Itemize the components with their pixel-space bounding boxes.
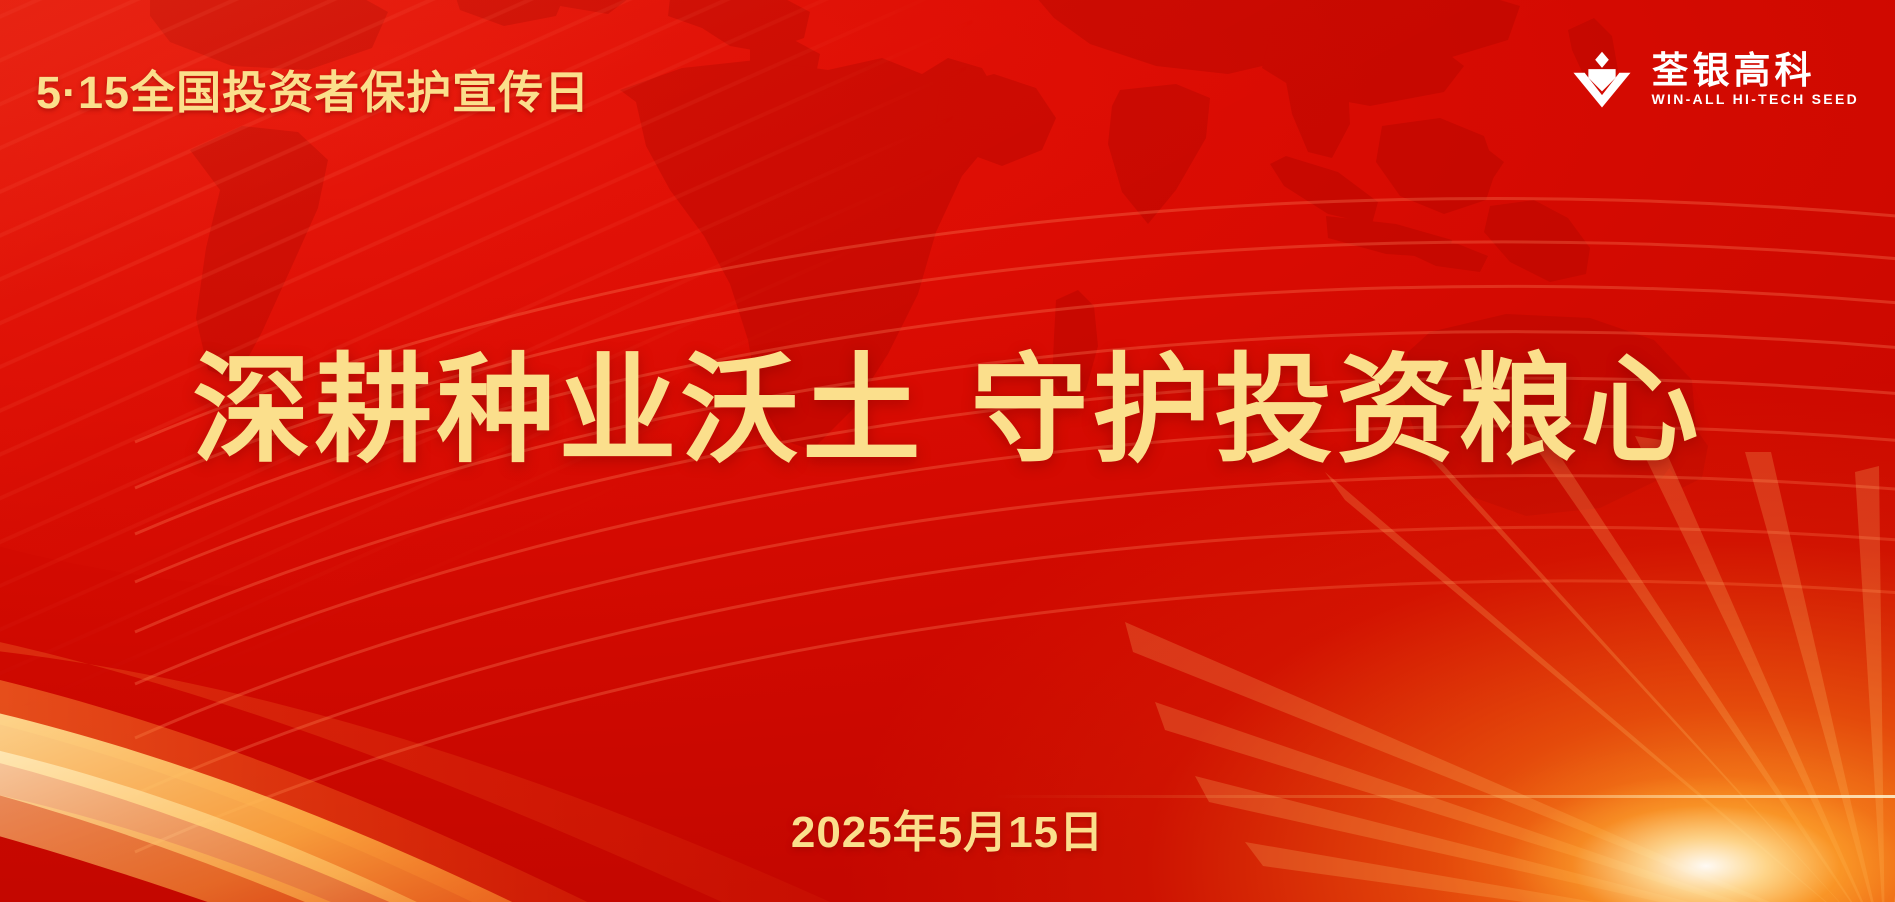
sprout-chevron-icon xyxy=(1571,48,1633,110)
logo-name-chinese: 荃银高科 xyxy=(1651,52,1859,89)
logo-name-english: WIN-ALL HI-TECH SEED xyxy=(1651,92,1859,106)
investor-protection-banner: 5·15全国投资者保护宣传日 荃银高科 WIN-ALL HI-TECH SEED… xyxy=(0,0,1895,902)
company-logo: 荃银高科 WIN-ALL HI-TECH SEED xyxy=(1571,48,1859,110)
slogan-part-1: 深耕种业沃土 xyxy=(192,345,924,477)
banner-content: 5·15全国投资者保护宣传日 荃银高科 WIN-ALL HI-TECH SEED… xyxy=(0,0,1895,902)
event-date: 2025年5月15日 xyxy=(0,796,1895,860)
main-slogan: 深耕种业沃土守护投资粮心 xyxy=(0,345,1895,477)
logo-wordmark: 荃银高科 WIN-ALL HI-TECH SEED xyxy=(1651,52,1859,106)
slogan-part-2: 守护投资粮心 xyxy=(971,345,1703,477)
campaign-eyebrow-text: 5·15全国投资者保护宣传日 xyxy=(36,56,590,121)
